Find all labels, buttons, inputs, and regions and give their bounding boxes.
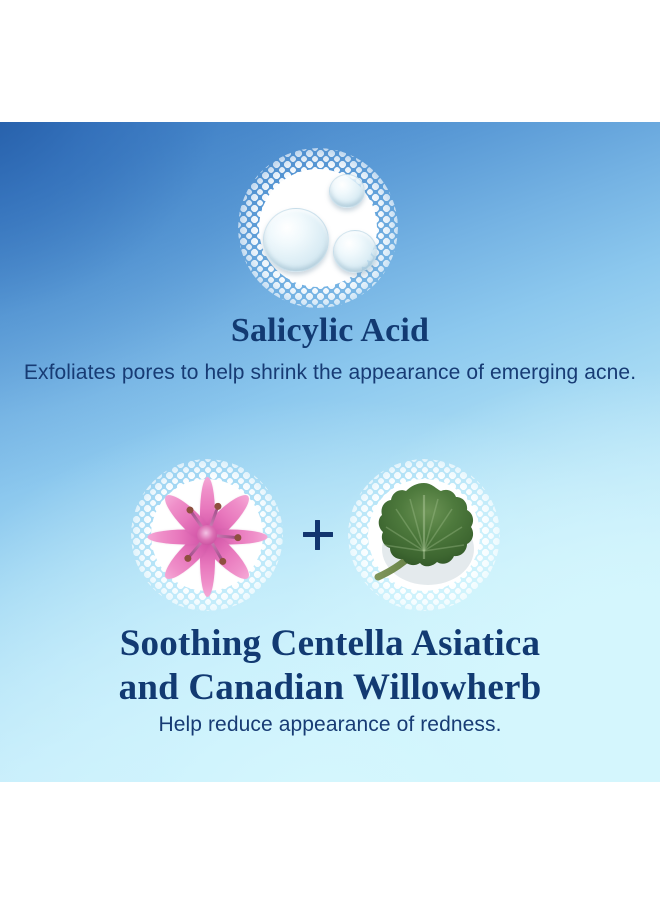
artboard: Salicylic Acid Exfoliates pores to help … <box>0 122 660 782</box>
infographic-page: Salicylic Acid Exfoliates pores to help … <box>0 0 660 904</box>
water-droplets-medallion <box>238 148 398 308</box>
leaf-blade <box>379 483 473 566</box>
medallion-content <box>131 459 283 611</box>
botanicals-subcopy: Help reduce appearance of redness. <box>0 710 660 739</box>
medallion-content <box>238 148 398 308</box>
botanicals-headline-line-2: and Canadian Willowherb <box>0 666 660 710</box>
willowherb-flower-icon <box>147 476 267 594</box>
droplet-small-icon <box>329 174 365 208</box>
salicylic-headline: Salicylic Acid <box>0 310 660 352</box>
botanicals-headline-line-1: Soothing Centella Asiatica <box>0 622 660 666</box>
plus-icon <box>303 520 333 550</box>
botanicals-headline: Soothing Centella Asiatica and Canadian … <box>0 622 660 710</box>
flower-center <box>197 525 217 545</box>
salicylic-subcopy: Exfoliates pores to help shrink the appe… <box>0 358 660 387</box>
willowherb-flower-medallion <box>131 459 283 611</box>
water-droplets-icon <box>257 172 379 284</box>
centella-leaf-icon <box>362 475 486 595</box>
droplet-medium-icon <box>333 230 377 273</box>
medallion-content <box>348 459 500 611</box>
centella-leaf-medallion <box>348 459 500 611</box>
droplet-large-icon <box>263 208 329 272</box>
